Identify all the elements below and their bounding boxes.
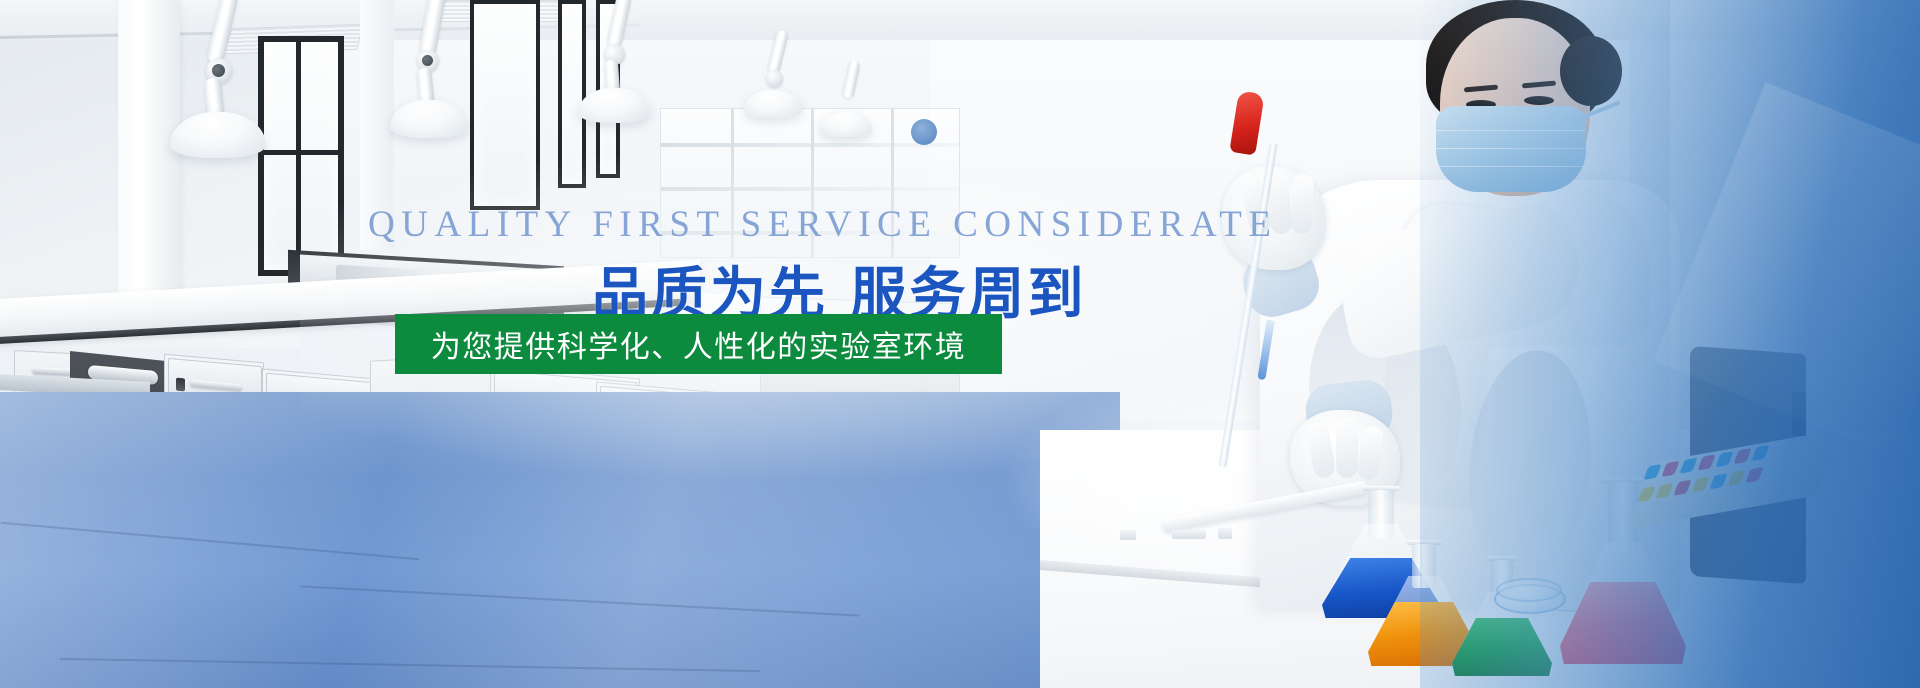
shelf-leg <box>811 109 814 257</box>
wall-logo-icon <box>911 119 937 145</box>
bench-label-chip <box>1120 530 1136 540</box>
hero-banner: QUALITY FIRST SERVICE CONSIDERATE 品质为先 服… <box>0 0 1920 688</box>
laboratory-photo <box>0 0 1920 688</box>
glove-finger <box>1290 173 1314 234</box>
shelf-board <box>661 143 959 147</box>
bench-label-chip <box>1218 528 1232 539</box>
shelf-leg <box>731 109 734 257</box>
arm-pivot-icon <box>422 55 433 66</box>
structural-column <box>118 0 180 330</box>
window-mullion <box>258 150 344 155</box>
pipette-bulb <box>1229 90 1264 155</box>
arm-pivot-icon <box>212 64 225 77</box>
floor-reflection <box>0 392 1120 688</box>
window-mullion <box>296 42 301 270</box>
bench-label-chip <box>1172 530 1206 539</box>
shelf-board <box>661 231 959 235</box>
shelf-leg <box>891 109 894 257</box>
wall-shelf-unit <box>660 108 960 258</box>
window-3 <box>558 0 586 188</box>
arm-joint <box>766 70 783 87</box>
structural-column-2 <box>360 0 394 250</box>
shelf-board <box>661 187 959 191</box>
drawer-lock-icon <box>176 378 185 392</box>
window-2 <box>470 0 540 210</box>
glove-finger <box>1336 418 1358 478</box>
fume-hood <box>820 112 872 137</box>
window-1 <box>258 36 344 276</box>
